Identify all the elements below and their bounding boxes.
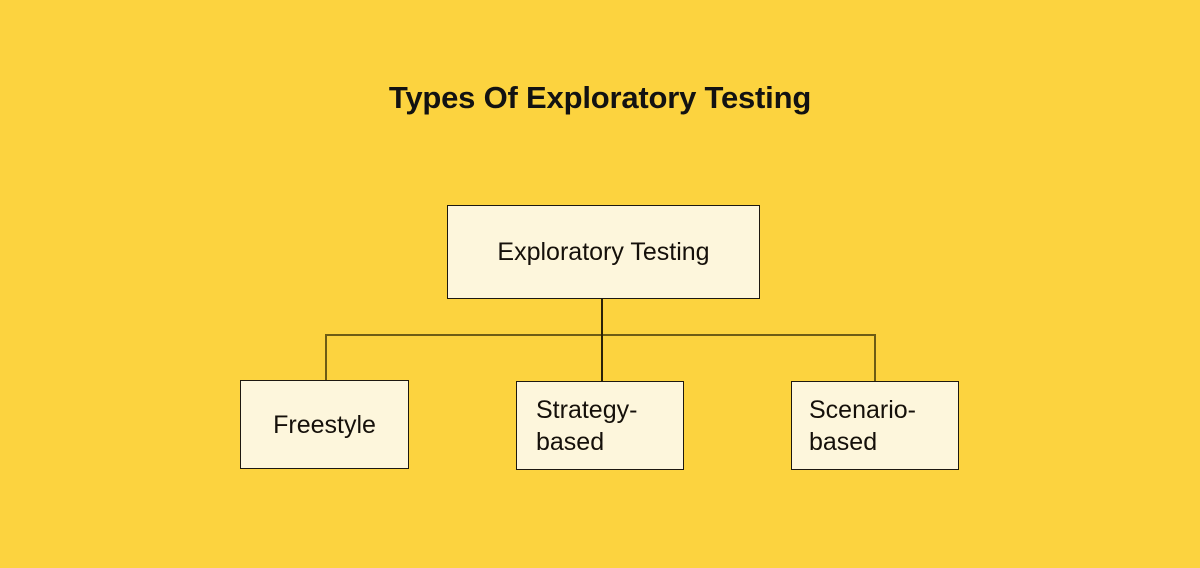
node-scenario-based: Scenario-based bbox=[791, 381, 959, 470]
diagram-canvas: Types Of Exploratory Testing Exploratory… bbox=[0, 0, 1200, 568]
node-strategy-based: Strategy-based bbox=[516, 381, 684, 470]
node-freestyle: Freestyle bbox=[240, 380, 409, 469]
node-label-exploratory-testing: Exploratory Testing bbox=[448, 236, 759, 268]
connector-to-strategy-based bbox=[601, 334, 603, 382]
node-exploratory-testing: Exploratory Testing bbox=[447, 205, 760, 299]
node-label-freestyle: Freestyle bbox=[241, 409, 408, 441]
connector-to-freestyle bbox=[325, 334, 327, 381]
connector-to-scenario-based bbox=[874, 334, 876, 382]
page-title: Types Of Exploratory Testing bbox=[0, 80, 1200, 116]
connector-root-stem bbox=[601, 299, 603, 336]
node-label-strategy-based: Strategy-based bbox=[536, 394, 683, 458]
node-label-scenario-based: Scenario-based bbox=[809, 394, 958, 458]
